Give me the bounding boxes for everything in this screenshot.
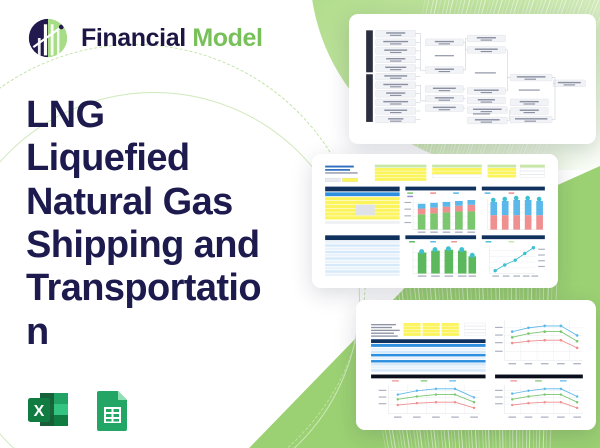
brand-name: Financial Model <box>81 24 263 53</box>
format-icons: X <box>24 386 136 434</box>
dupont-analysis-flowchart-preview[interactable] <box>349 14 596 144</box>
dashboard-canvas <box>312 154 558 288</box>
financial-dashboard-preview[interactable] <box>312 154 558 288</box>
excel-icon[interactable]: X <box>24 386 72 434</box>
linecharts-canvas <box>356 300 596 430</box>
flowchart-canvas <box>349 14 596 144</box>
left-content: Financial Model LNG Liquefied Natural Ga… <box>26 16 316 354</box>
svg-text:X: X <box>34 403 45 420</box>
google-sheets-icon[interactable] <box>88 386 136 434</box>
brand-name-primary: Financial <box>81 24 186 52</box>
brand-lockup: Financial Model <box>26 16 316 60</box>
page-title: LNG Liquefied Natural Gas Shipping and T… <box>26 94 276 354</box>
circular-chart-logo-icon <box>26 16 70 60</box>
scenario-line-charts-preview[interactable] <box>356 300 596 430</box>
brand-name-secondary: Model <box>192 24 262 52</box>
promo-banner: Financial Model LNG Liquefied Natural Ga… <box>0 0 600 448</box>
